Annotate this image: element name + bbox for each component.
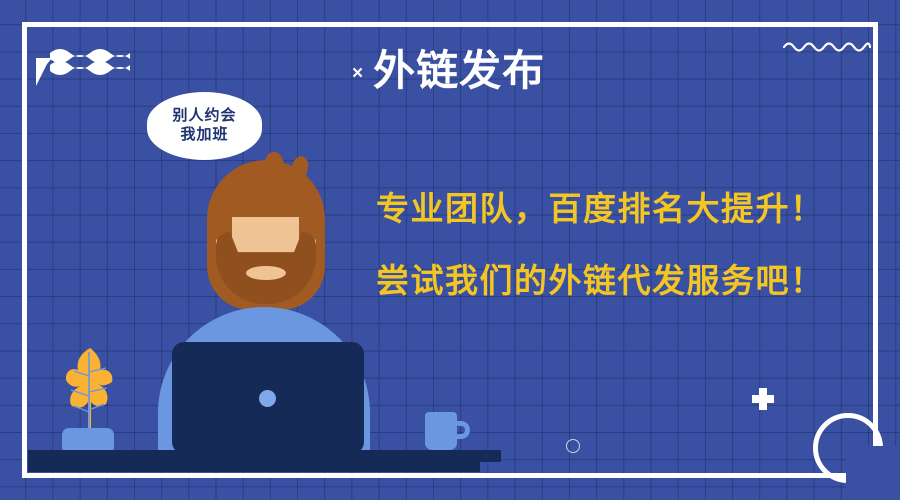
hair-tuft-right-shape (290, 154, 311, 179)
tagline-group: 专业团队，百度排名大提升！ 尝试我们的外链代发服务吧！ (376, 182, 825, 302)
speech-bubble: 别人约会 我加班 (147, 92, 262, 160)
title-text: 外链发布 (373, 50, 545, 92)
corner-arc-mask (846, 446, 900, 500)
title-cross-mark-icon: × (352, 64, 364, 83)
speech-bubble-text: 别人约会 我加班 (147, 92, 262, 160)
desk-step-shape (457, 450, 501, 462)
laptop-shape (172, 342, 364, 454)
plus-icon (752, 388, 774, 410)
plant-leaf-icon (62, 346, 118, 434)
banner-root: 别人约会 我加班 × 外链发布 专业团队，百度排名大提升！ 尝试我们的外链代发服… (0, 0, 900, 500)
mouth-shape (246, 266, 286, 280)
speech-bubble-line-1: 别人约会 (172, 107, 236, 126)
speech-bubble-line-2: 我加班 (180, 126, 228, 145)
mug-handle-shape (453, 421, 470, 439)
speech-bubble-tail (36, 58, 52, 86)
laptop-logo-icon (259, 390, 276, 407)
circle-outline-icon (566, 439, 580, 453)
desk-surface-shape (28, 450, 480, 472)
tagline-line-1: 专业团队，百度排名大提升！ (376, 182, 825, 230)
tagline-line-2: 尝试我们的外链代发服务吧！ (376, 254, 825, 302)
page-title: × 外链发布 (352, 50, 545, 92)
hair-fringe-shape (216, 183, 316, 217)
